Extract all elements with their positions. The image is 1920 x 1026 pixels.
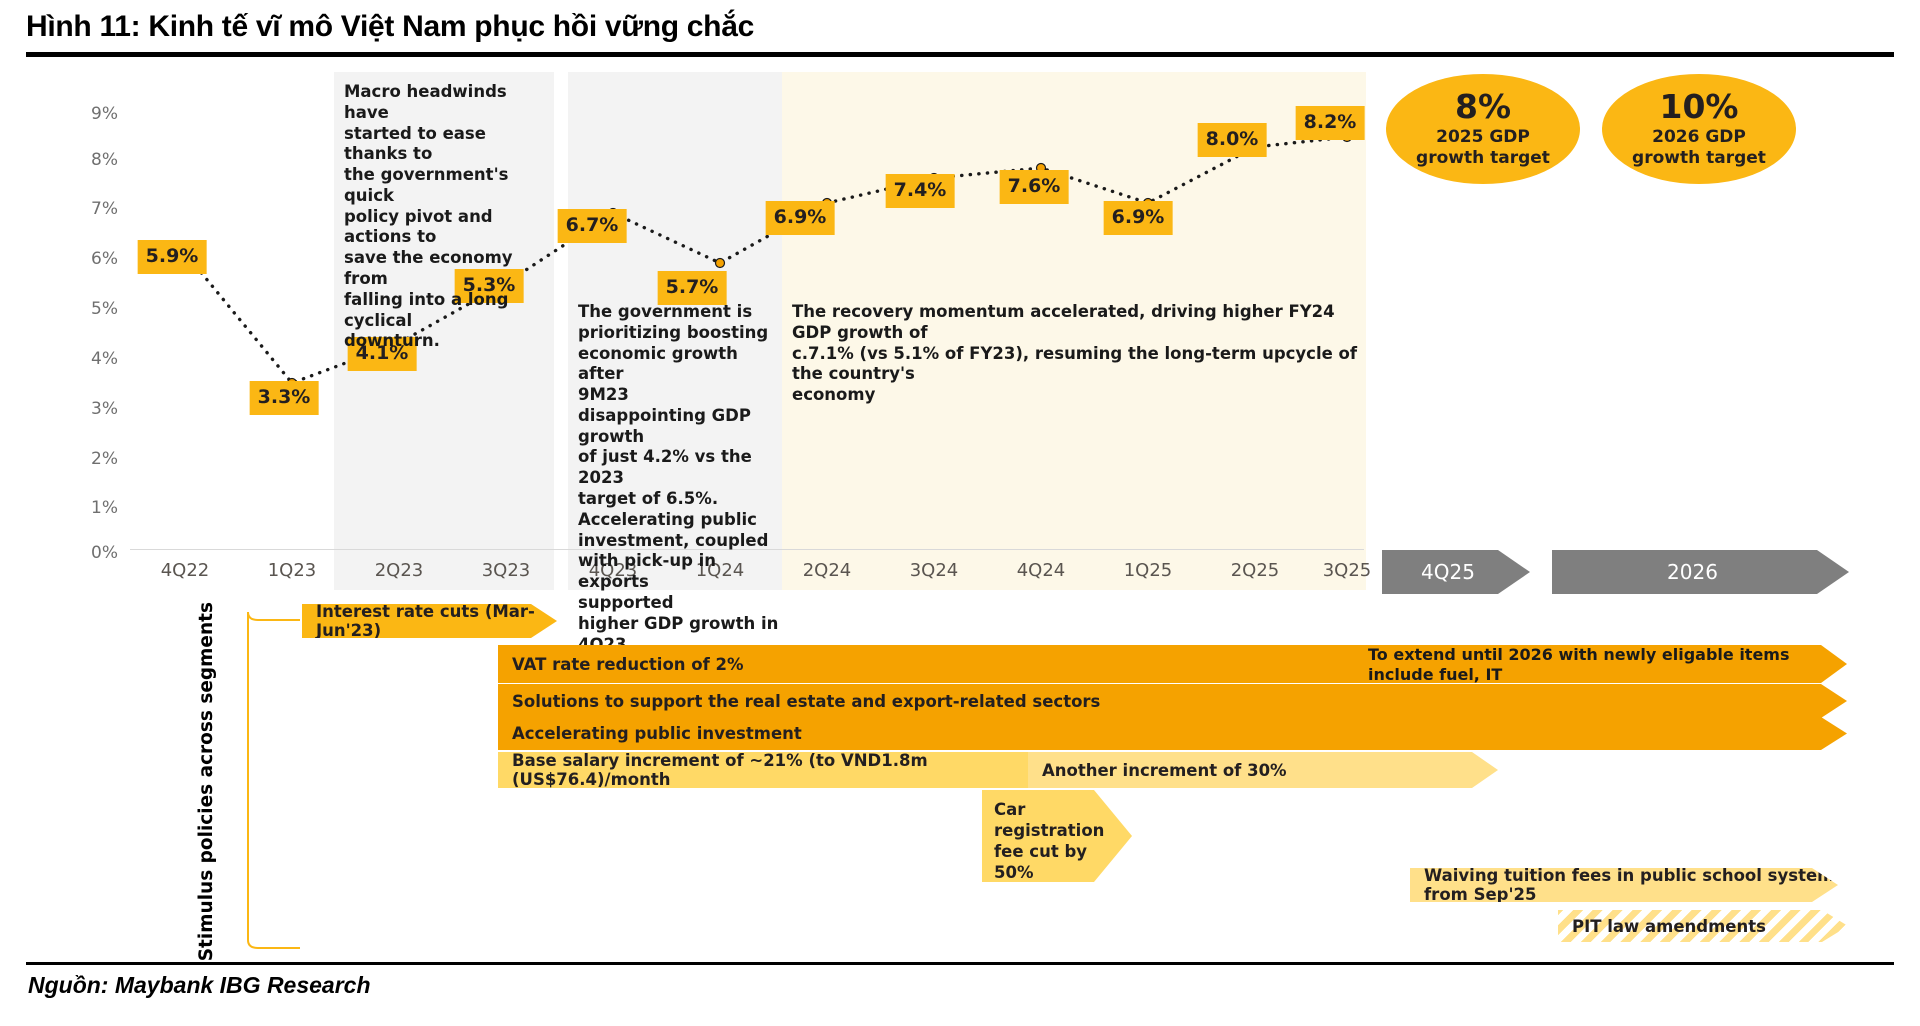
annotation-line: prioritizing boosting xyxy=(578,323,783,344)
chevron-2026: 2026 xyxy=(1552,550,1849,594)
y-tick-4: 4% xyxy=(72,349,118,369)
y-tick-1: 1% xyxy=(72,498,118,518)
y-tick-9: 9% xyxy=(72,104,118,124)
x-tick-1q25: 1Q25 xyxy=(1093,560,1203,581)
stimulus-bar-interest-rate-cuts: Interest rate cuts (Mar- Jun'23) xyxy=(302,604,557,638)
annotation-line: investment, coupled xyxy=(578,531,783,552)
stimulus-bar-label: Waiving tuition fees in public school sy… xyxy=(1424,866,1838,904)
stimulus-bar-accelerating-public-investment: Accelerating public investment xyxy=(498,717,1847,750)
stimulus-bar-label: Solutions to support the real estate and… xyxy=(512,692,1100,711)
target-2026-ellipse: 10% 2026 GDP growth target xyxy=(1602,74,1796,184)
y-tick-2: 2% xyxy=(72,449,118,469)
x-tick-4q22: 4Q22 xyxy=(130,560,240,581)
y-tick-8: 8% xyxy=(72,150,118,170)
stimulus-axis-label: Stimulus policies across segments xyxy=(196,602,224,962)
y-tick-3: 3% xyxy=(72,399,118,419)
stimulus-bar-label: Accelerating public investment xyxy=(512,724,802,743)
annotation-line: Accelerating public xyxy=(578,510,783,531)
stimulus-axis-label-text: Stimulus policies across segments xyxy=(196,602,217,961)
annotation-line: policy pivot and actions to xyxy=(344,207,550,249)
annotation-line: higher GDP growth in xyxy=(578,614,783,635)
annotation-government-prioritizing: The government is prioritizing boosting … xyxy=(578,302,783,655)
annotation-line: economy xyxy=(792,385,1362,406)
chevron-4q25-label: 4Q25 xyxy=(1421,560,1475,584)
stimulus-bar-real-estate-export-support: Solutions to support the real estate and… xyxy=(498,684,1847,718)
stimulus-bar-label: To extend until 2026 with newly eligable… xyxy=(1368,645,1848,685)
page-title: Hình 11: Kinh tế vĩ mô Việt Nam phục hồi… xyxy=(26,10,1896,44)
y-tick-0: 0% xyxy=(72,543,118,563)
chevron-2026-label: 2026 xyxy=(1667,560,1718,584)
y-tick-5: 5% xyxy=(72,299,118,319)
x-tick-4q24: 4Q24 xyxy=(986,560,1096,581)
source-note: Nguồn: Maybank IBG Research xyxy=(28,972,371,999)
chevron-4q25: 4Q25 xyxy=(1382,550,1530,594)
annotation-recovery-momentum: The recovery momentum accelerated, drivi… xyxy=(792,302,1362,406)
stimulus-bar-label-line: registration xyxy=(994,820,1132,841)
stimulus-bar-label-line: Car xyxy=(994,799,1132,820)
target-2026-caption-2: growth target xyxy=(1632,148,1766,168)
y-tick-7: 7% xyxy=(72,199,118,219)
data-label-1q25: 6.9% xyxy=(1104,201,1173,235)
annotation-line: of just 4.2% vs the 2023 xyxy=(578,447,783,489)
figure-root: Hình 11: Kinh tế vĩ mô Việt Nam phục hồi… xyxy=(0,0,1920,1026)
x-tick-3q24: 3Q24 xyxy=(879,560,989,581)
stimulus-bar-label: Interest rate cuts (Mar- Jun'23) xyxy=(316,602,557,640)
x-tick-1q23: 1Q23 xyxy=(237,560,347,581)
annotation-line: falling into a long cyclical xyxy=(344,290,550,332)
stimulus-bar-label: Another increment of 30% xyxy=(1042,761,1287,780)
stimulus-bar-waiving-tuition-fees: Waiving tuition fees in public school sy… xyxy=(1410,868,1838,902)
title-divider xyxy=(26,52,1894,57)
annotation-line: The government is xyxy=(578,302,783,323)
annotation-line: target of 6.5%. xyxy=(578,489,783,510)
annotation-line: disappointing GDP growth xyxy=(578,406,783,448)
target-2026-value: 10% xyxy=(1660,90,1739,125)
target-2025-value: 8% xyxy=(1455,90,1511,125)
annotation-line: with pick-up in exports xyxy=(578,551,783,593)
footer-divider xyxy=(26,962,1894,965)
stimulus-bar-label: VAT rate reduction of 2% xyxy=(512,655,744,674)
annotation-line: the government's quick xyxy=(344,165,550,207)
target-2025-caption-2: growth target xyxy=(1416,148,1550,168)
annotation-line: started to ease thanks to xyxy=(344,124,550,166)
stimulus-bar-pit-law-amendments: PIT law amendments xyxy=(1558,910,1848,942)
annotation-macro-headwinds: Macro headwinds have started to ease tha… xyxy=(344,82,550,352)
data-label-4q24: 7.6% xyxy=(1000,170,1069,204)
annotation-line: c.7.1% (vs 5.1% of FY23), resuming the l… xyxy=(792,344,1362,386)
stimulus-bar-label: PIT law amendments xyxy=(1572,917,1766,936)
stimulus-bar-label: Car registration fee cut by 50% (Sep-Nov… xyxy=(994,799,1132,905)
x-tick-2q24: 2Q24 xyxy=(772,560,882,581)
x-tick-2q23: 2Q23 xyxy=(344,560,454,581)
data-label-3q25: 8.2% xyxy=(1296,106,1365,140)
annotation-line: 9M23 xyxy=(578,385,783,406)
annotation-line: economic growth after xyxy=(578,344,783,386)
data-label-1q24: 5.7% xyxy=(658,271,727,305)
target-2026-caption-1: 2026 GDP xyxy=(1652,127,1746,147)
x-tick-3q23: 3Q23 xyxy=(451,560,561,581)
y-tick-6: 6% xyxy=(72,249,118,269)
stimulus-bracket xyxy=(248,612,300,948)
stimulus-bar-base-salary-increment: Base salary increment of ~21% (to VND1.8… xyxy=(498,752,1058,788)
data-label-2q25: 8.0% xyxy=(1198,123,1267,157)
stimulus-bar-another-increment: Another increment of 30% xyxy=(1028,752,1498,788)
data-label-4q22: 5.9% xyxy=(138,240,207,274)
data-label-3q24: 7.4% xyxy=(886,174,955,208)
data-label-1q23: 3.3% xyxy=(250,381,319,415)
target-2025-ellipse: 8% 2025 GDP growth target xyxy=(1386,74,1580,184)
annotation-line: downturn. xyxy=(344,331,550,352)
stimulus-bar-label: Base salary increment of ~21% (to VND1.8… xyxy=(512,751,1058,789)
annotation-line: supported xyxy=(578,593,783,614)
data-label-4q23: 6.7% xyxy=(558,209,627,243)
annotation-line: The recovery momentum accelerated, drivi… xyxy=(792,302,1362,344)
stimulus-bar-car-registration-fee-cut: Car registration fee cut by 50% (Sep-Nov… xyxy=(982,790,1132,882)
stimulus-bar-label-line: fee cut by 50% xyxy=(994,841,1132,883)
data-label-2q24: 6.9% xyxy=(766,201,835,235)
annotation-line: Macro headwinds have xyxy=(344,82,550,124)
stimulus-bar-label-line: (Sep-Nov'24) xyxy=(994,883,1132,904)
target-2025-caption-1: 2025 GDP xyxy=(1436,127,1530,147)
annotation-line: save the economy from xyxy=(344,248,550,290)
